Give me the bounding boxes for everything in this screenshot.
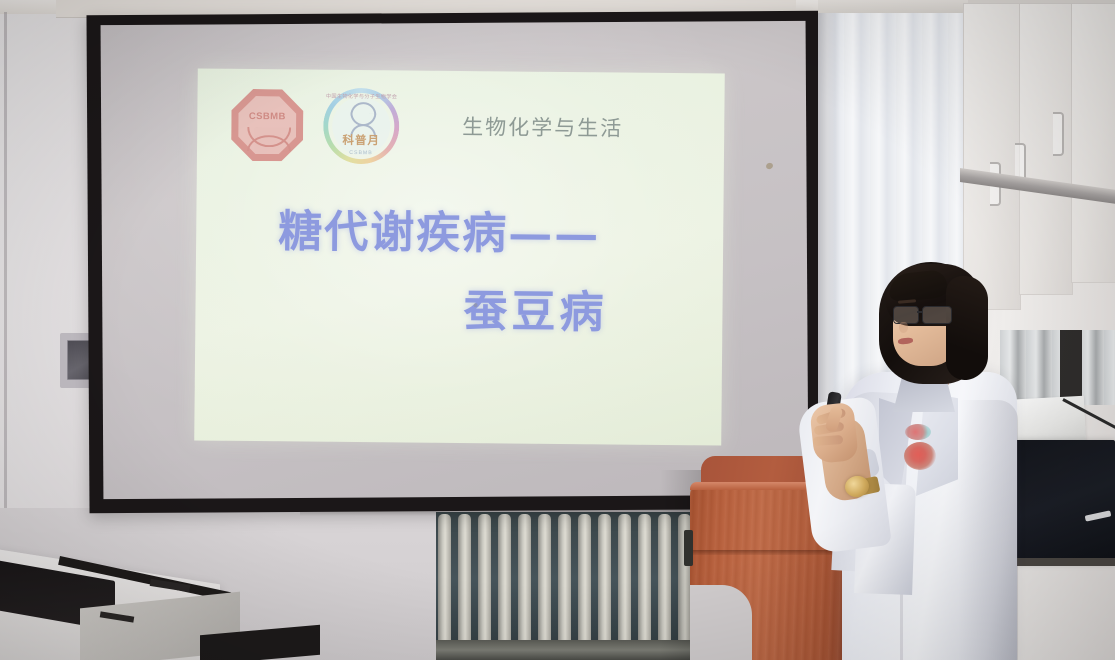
wall-cabinet-1[interactable] (963, 3, 1021, 310)
eyeglasses-icon (893, 306, 957, 323)
slide-speck (474, 303, 478, 307)
wall-cabinet-2[interactable] (1019, 3, 1073, 295)
slide-header-text: 生物化学与生活 (462, 111, 623, 143)
csbmb-logo-icon: CSBMB (227, 85, 308, 166)
laptop-screen[interactable] (1015, 440, 1115, 560)
speaker-hair-side (946, 276, 988, 380)
laptop-base (1012, 558, 1115, 566)
slide-logo-row: CSBMB 中国生物化学与分子生物学会 科普月 CSBMB (227, 85, 400, 167)
podium-side-notch (690, 585, 752, 660)
wall-cabinet-3[interactable] (1071, 3, 1115, 283)
kepu-center-text: 科普月 (323, 132, 399, 149)
coat-shading (958, 400, 1018, 660)
projected-slide: CSBMB 中国生物化学与分子生物学会 科普月 CSBMB 生物化学与生活 糖代… (194, 68, 725, 445)
cabinet-handle-3[interactable] (1053, 112, 1064, 156)
slide-title-line-2: 蚕豆病 (463, 275, 608, 340)
slide-title-line-1: 糖代谢疾病—— (278, 195, 601, 262)
coat-badge-upper (905, 424, 931, 440)
curtain-rail (818, 0, 968, 13)
kepu-month-logo-icon: 中国生物化学与分子生物学会 科普月 CSBMB (323, 88, 400, 165)
kepu-ring-top-text: 中国生物化学与分子生物学会 (324, 93, 400, 101)
csbmb-logo-text: CSBMB (227, 111, 307, 123)
speaker-nose (899, 322, 908, 333)
podium-clip (684, 530, 693, 566)
lecture-photo-scene: CSBMB 中国生物化学与分子生物学会 科普月 CSBMB 生物化学与生活 糖代… (0, 0, 1115, 660)
coat-badge (904, 442, 936, 470)
kepu-ring-bottom-text: CSBMB (323, 150, 399, 157)
background-blinds (1000, 330, 1115, 405)
